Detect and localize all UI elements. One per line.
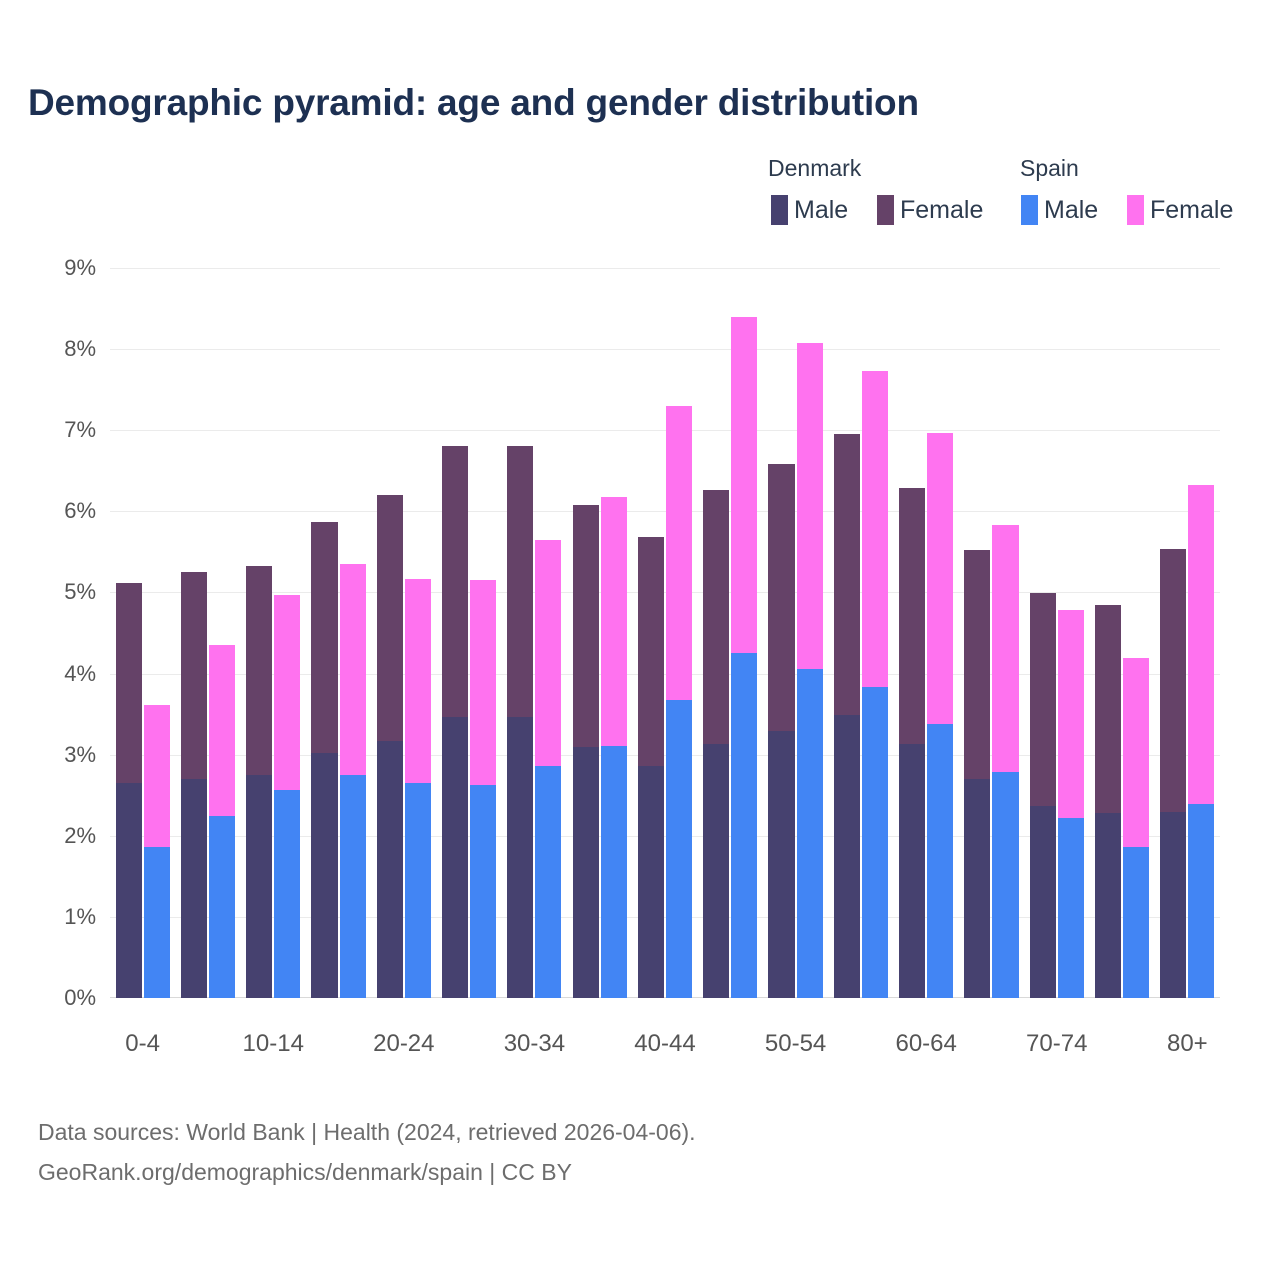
x-axis-tick-label: 70-74 bbox=[1026, 1030, 1087, 1058]
bar-spain[interactable] bbox=[927, 433, 953, 998]
bar-segment-denmark-male[interactable] bbox=[899, 744, 925, 998]
chart-legend: Denmark Spain Male Female Male Female bbox=[745, 155, 1255, 235]
x-axis-tick-label: 60-64 bbox=[895, 1030, 956, 1058]
bar-segment-spain-male[interactable] bbox=[144, 847, 170, 998]
bar-group bbox=[763, 268, 828, 998]
x-axis-tick-label: 40-44 bbox=[634, 1030, 695, 1058]
bar-segment-spain-male[interactable] bbox=[862, 687, 888, 998]
bar-segment-spain-male[interactable] bbox=[470, 785, 496, 998]
bar-spain[interactable] bbox=[340, 564, 366, 998]
bar-segment-spain-male[interactable] bbox=[666, 700, 692, 998]
bar-spain[interactable] bbox=[470, 580, 496, 998]
bar-segment-denmark-female[interactable] bbox=[638, 537, 664, 766]
bar-segment-spain-male[interactable] bbox=[992, 772, 1018, 998]
bar-denmark[interactable] bbox=[768, 463, 794, 998]
footer-attribution: GeoRank.org/demographics/denmark/spain |… bbox=[38, 1152, 1138, 1192]
bar-group bbox=[632, 268, 697, 998]
bar-spain[interactable] bbox=[209, 645, 235, 998]
y-axis-tick-label: 5% bbox=[64, 579, 96, 605]
legend-item-label: Male bbox=[1044, 198, 1098, 223]
y-axis-tick-label: 4% bbox=[64, 661, 96, 687]
bar-segment-spain-male[interactable] bbox=[797, 669, 823, 998]
bar-group bbox=[1155, 268, 1220, 998]
bar-segment-spain-female[interactable] bbox=[797, 343, 823, 669]
legend-items-row: Male Female Male Female bbox=[745, 195, 1255, 229]
bar-segment-spain-female[interactable] bbox=[927, 433, 953, 724]
bar-segment-spain-female[interactable] bbox=[340, 564, 366, 775]
bar-segment-spain-female[interactable] bbox=[405, 579, 431, 783]
bar-segment-denmark-male[interactable] bbox=[442, 717, 468, 998]
bar-segment-spain-female[interactable] bbox=[274, 595, 300, 790]
bar-denmark[interactable] bbox=[181, 572, 207, 998]
legend-swatch-icon bbox=[1127, 195, 1144, 225]
bar-segment-spain-female[interactable] bbox=[1188, 485, 1214, 805]
bar-segment-denmark-female[interactable] bbox=[311, 522, 337, 753]
bar-segment-denmark-male[interactable] bbox=[311, 753, 337, 998]
bar-segment-denmark-female[interactable] bbox=[1160, 549, 1186, 812]
bar-segment-spain-female[interactable] bbox=[731, 317, 757, 654]
bar-denmark[interactable] bbox=[638, 537, 664, 998]
bar-group bbox=[959, 268, 1024, 998]
bar-segment-denmark-male[interactable] bbox=[377, 741, 403, 998]
bar-segment-spain-female[interactable] bbox=[470, 580, 496, 784]
footer-data-sources: Data sources: World Bank | Health (2024,… bbox=[38, 1112, 1138, 1152]
bar-segment-denmark-female[interactable] bbox=[703, 490, 729, 744]
bar-denmark[interactable] bbox=[899, 488, 925, 998]
x-axis-tick-label: 50-54 bbox=[765, 1030, 826, 1058]
bar-denmark[interactable] bbox=[442, 446, 468, 998]
bar-segment-denmark-female[interactable] bbox=[1095, 605, 1121, 813]
bar-segment-spain-female[interactable] bbox=[1058, 610, 1084, 818]
chart-title: Demographic pyramid: age and gender dist… bbox=[28, 82, 919, 124]
bar-spain[interactable] bbox=[144, 705, 170, 998]
bar-segment-spain-female[interactable] bbox=[1123, 658, 1149, 847]
legend-item-spain-male[interactable]: Male bbox=[1021, 195, 1098, 225]
bar-spain[interactable] bbox=[274, 595, 300, 998]
bar-group bbox=[436, 268, 501, 998]
bar-segment-spain-female[interactable] bbox=[862, 371, 888, 687]
x-axis-tick-label: 10-14 bbox=[243, 1030, 304, 1058]
bar-segment-spain-male[interactable] bbox=[731, 653, 757, 998]
y-axis-tick-label: 6% bbox=[64, 498, 96, 524]
bar-segment-spain-male[interactable] bbox=[927, 724, 953, 998]
bar-segment-denmark-male[interactable] bbox=[1160, 812, 1186, 998]
bar-group bbox=[1024, 268, 1089, 998]
x-axis-tick-label: 20-24 bbox=[373, 1030, 434, 1058]
bar-group bbox=[502, 268, 567, 998]
bar-segment-spain-male[interactable] bbox=[209, 816, 235, 998]
bar-spain[interactable] bbox=[666, 406, 692, 998]
legend-swatch-icon bbox=[771, 195, 788, 225]
y-axis-tick-label: 0% bbox=[64, 985, 96, 1011]
bar-segment-spain-female[interactable] bbox=[992, 525, 1018, 772]
legend-item-denmark-male[interactable]: Male bbox=[771, 195, 848, 225]
bar-spain[interactable] bbox=[797, 343, 823, 998]
bar-segment-spain-female[interactable] bbox=[601, 497, 627, 746]
bar-segment-denmark-female[interactable] bbox=[246, 566, 272, 775]
bar-segment-denmark-female[interactable] bbox=[834, 434, 860, 715]
bar-segment-denmark-male[interactable] bbox=[181, 779, 207, 998]
bar-spain[interactable] bbox=[601, 497, 627, 998]
bar-segment-denmark-male[interactable] bbox=[116, 783, 142, 998]
bar-segment-denmark-female[interactable] bbox=[377, 495, 403, 741]
legend-swatch-icon bbox=[1021, 195, 1038, 225]
chart-footer: Data sources: World Bank | Health (2024,… bbox=[38, 1112, 1138, 1192]
bar-segment-denmark-female[interactable] bbox=[964, 550, 990, 779]
bar-denmark[interactable] bbox=[573, 505, 599, 998]
bar-segment-denmark-male[interactable] bbox=[1030, 806, 1056, 998]
bar-segment-spain-female[interactable] bbox=[209, 645, 235, 816]
y-axis-tick-label: 9% bbox=[64, 255, 96, 281]
bar-spain[interactable] bbox=[405, 579, 431, 998]
bar-denmark[interactable] bbox=[377, 495, 403, 998]
bar-segment-denmark-male[interactable] bbox=[703, 744, 729, 998]
bar-segment-denmark-female[interactable] bbox=[116, 583, 142, 783]
bar-spain[interactable] bbox=[731, 317, 757, 998]
bar-group bbox=[567, 268, 632, 998]
bar-spain[interactable] bbox=[862, 371, 888, 998]
bar-denmark[interactable] bbox=[964, 550, 990, 998]
bar-segment-denmark-female[interactable] bbox=[573, 505, 599, 747]
bar-segment-spain-male[interactable] bbox=[405, 783, 431, 998]
bar-denmark[interactable] bbox=[507, 446, 533, 998]
bar-group bbox=[110, 268, 175, 998]
bar-segment-spain-male[interactable] bbox=[535, 766, 561, 998]
bar-group bbox=[306, 268, 371, 998]
chart-container: Demographic pyramid: age and gender dist… bbox=[0, 0, 1280, 1280]
bar-group bbox=[175, 268, 240, 998]
bar-denmark[interactable] bbox=[1160, 549, 1186, 998]
bar-denmark[interactable] bbox=[703, 490, 729, 998]
legend-item-spain-female[interactable]: Female bbox=[1127, 195, 1233, 225]
bar-group bbox=[894, 268, 959, 998]
legend-swatch-icon bbox=[877, 195, 894, 225]
y-axis-tick-label: 3% bbox=[64, 742, 96, 768]
bar-denmark[interactable] bbox=[1095, 605, 1121, 998]
plot-area bbox=[110, 268, 1220, 998]
bar-segment-denmark-male[interactable] bbox=[768, 731, 794, 998]
x-axis-tick-label: 0-4 bbox=[125, 1030, 160, 1058]
legend-country-row: Denmark Spain bbox=[745, 155, 1255, 185]
bar-segment-denmark-male[interactable] bbox=[573, 747, 599, 998]
bar-segment-denmark-female[interactable] bbox=[507, 446, 533, 717]
legend-item-label: Male bbox=[794, 198, 848, 223]
bar-spain[interactable] bbox=[1123, 658, 1149, 998]
x-axis-tick-label: 80+ bbox=[1167, 1030, 1208, 1058]
bar-segment-spain-female[interactable] bbox=[144, 705, 170, 847]
bar-segment-denmark-male[interactable] bbox=[507, 717, 533, 998]
bar-segment-denmark-male[interactable] bbox=[964, 779, 990, 998]
bar-segment-denmark-male[interactable] bbox=[1095, 813, 1121, 998]
bar-segment-denmark-female[interactable] bbox=[442, 446, 468, 716]
bar-segment-spain-male[interactable] bbox=[274, 790, 300, 998]
legend-country-spain: Spain bbox=[1020, 155, 1079, 182]
bar-segment-spain-male[interactable] bbox=[1188, 804, 1214, 998]
bar-denmark[interactable] bbox=[311, 522, 337, 998]
y-axis-tick-label: 1% bbox=[64, 904, 96, 930]
bar-denmark[interactable] bbox=[246, 566, 272, 998]
x-axis-tick-label: 30-34 bbox=[504, 1030, 565, 1058]
bar-spain[interactable] bbox=[1188, 485, 1214, 998]
bar-segment-spain-female[interactable] bbox=[666, 406, 692, 700]
legend-item-label: Female bbox=[1150, 198, 1233, 223]
bar-spain[interactable] bbox=[992, 525, 1018, 998]
bar-segment-denmark-male[interactable] bbox=[638, 766, 664, 998]
bar-denmark[interactable] bbox=[116, 583, 142, 998]
bar-segment-spain-male[interactable] bbox=[340, 775, 366, 998]
legend-country-denmark: Denmark bbox=[768, 155, 861, 182]
bar-segment-denmark-female[interactable] bbox=[899, 488, 925, 744]
bar-segment-spain-male[interactable] bbox=[601, 746, 627, 998]
legend-item-denmark-female[interactable]: Female bbox=[877, 195, 983, 225]
bar-segment-denmark-female[interactable] bbox=[181, 572, 207, 779]
bar-denmark[interactable] bbox=[834, 434, 860, 998]
bar-group bbox=[828, 268, 893, 998]
bar-spain[interactable] bbox=[535, 540, 561, 998]
y-axis-tick-label: 2% bbox=[64, 823, 96, 849]
bar-spain[interactable] bbox=[1058, 610, 1084, 998]
bar-segment-spain-female[interactable] bbox=[535, 540, 561, 766]
bar-segment-spain-male[interactable] bbox=[1058, 818, 1084, 998]
bar-group bbox=[371, 268, 436, 998]
bar-segment-denmark-male[interactable] bbox=[246, 775, 272, 998]
bar-segment-denmark-female[interactable] bbox=[1030, 593, 1056, 806]
bar-group bbox=[1089, 268, 1154, 998]
legend-item-label: Female bbox=[900, 198, 983, 223]
bar-segment-denmark-male[interactable] bbox=[834, 715, 860, 998]
bar-denmark[interactable] bbox=[1030, 593, 1056, 998]
bar-group bbox=[698, 268, 763, 998]
bar-segment-spain-male[interactable] bbox=[1123, 847, 1149, 998]
bar-group bbox=[241, 268, 306, 998]
y-axis-tick-label: 8% bbox=[64, 336, 96, 362]
y-axis-tick-label: 7% bbox=[64, 417, 96, 443]
bar-segment-denmark-female[interactable] bbox=[768, 464, 794, 732]
